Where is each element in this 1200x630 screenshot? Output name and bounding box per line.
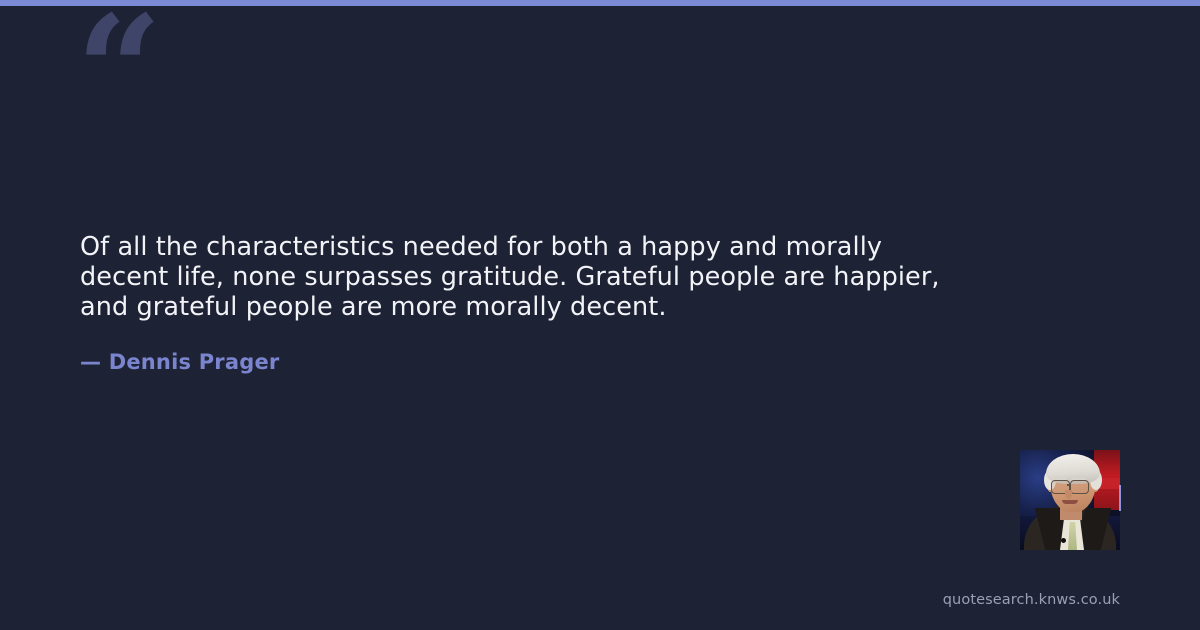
quote-card: “ Of all the characteristics needed for … [0, 0, 1200, 630]
portrait-glasses-bridge [1067, 484, 1071, 486]
site-watermark: quotesearch.knws.co.uk [943, 590, 1120, 610]
portrait-edge-artifact [1119, 485, 1121, 511]
portrait-mouth [1062, 500, 1078, 504]
quote-author: — Dennis Prager [80, 348, 279, 376]
top-accent-bar [0, 0, 1200, 6]
quote-block: Of all the characteristics needed for bo… [80, 232, 1040, 322]
portrait-nose [1065, 490, 1072, 499]
portrait-glasses-right-lens [1070, 480, 1089, 494]
author-portrait [1020, 450, 1120, 550]
portrait-lapel-mic [1061, 538, 1066, 543]
opening-quote-icon: “ [76, 0, 160, 146]
quote-text: Of all the characteristics needed for bo… [80, 232, 1040, 322]
portrait-scene [1020, 450, 1120, 550]
